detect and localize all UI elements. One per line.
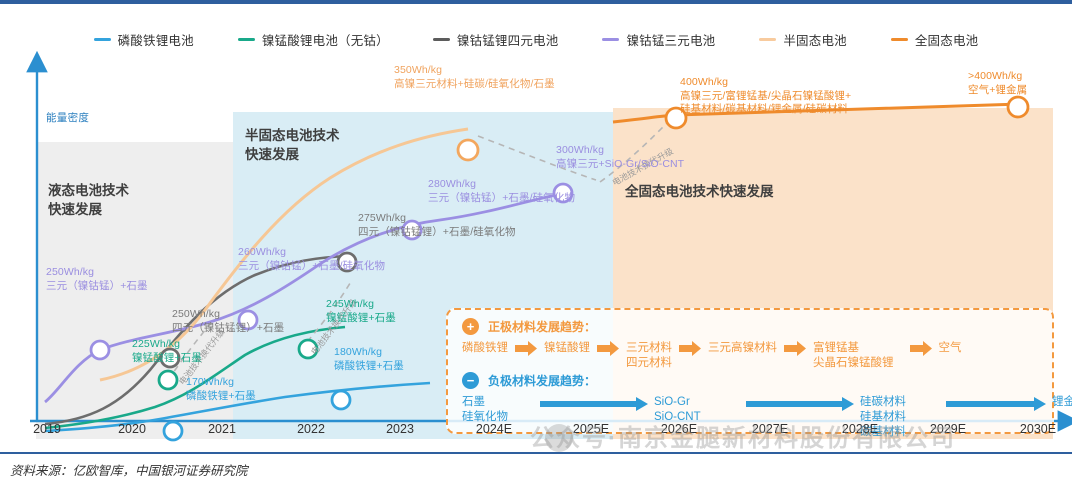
annotation-350: 350Wh/kg 高镍三元材料+硅碳/硅氧化物/石墨	[394, 64, 555, 91]
x-tick-2021: 2021	[208, 422, 236, 436]
annotation-245: 245Wh/kg 镍锰酸锂+石墨	[326, 298, 396, 325]
legend-swatch-quaternary	[433, 38, 450, 41]
legend-label-lnmo: 镍锰酸锂电池（无钴）	[262, 30, 389, 49]
annotation-250-ternary-material: 三元（镍钴锰）+石墨	[46, 280, 148, 294]
arrow-right-icon	[679, 341, 701, 361]
annotation-350-value: 350Wh/kg	[394, 64, 555, 78]
annotation-280: 280Wh/kg 三元（镍钴锰）+石墨/硅氧化物	[428, 178, 575, 205]
annotation-245-value: 245Wh/kg	[326, 298, 396, 312]
annotation-250-ternary: 250Wh/kg 三元（镍钴锰）+石墨	[46, 266, 148, 293]
cathode-node-3-l1: 三元材料	[626, 342, 672, 354]
annotation-260-value: 260Wh/kg	[238, 246, 385, 260]
legend-label-ncm: 镍钴锰三元电池	[626, 30, 715, 49]
cathode-node-4-l1: 三元高镍材料	[708, 342, 777, 354]
chart-legend: 磷酸铁锂电池 镍锰酸锂电池（无钴） 镍钴锰锂四元电池 镍钴锰三元电池 半固态电池…	[0, 28, 1072, 50]
anode-trend-header: − 负极材料发展趋势：	[462, 372, 596, 389]
annotation-300: 300Wh/kg 高镍三元+SiO-Gr/SiO-CNT	[556, 144, 684, 171]
legend-item-lfp[interactable]: 磷酸铁锂电池	[94, 30, 194, 49]
cathode-node-3-l2: 四元材料	[626, 357, 672, 369]
arrow-right-icon	[540, 397, 648, 416]
legend-item-quaternary[interactable]: 镍钴锰锂四元电池	[433, 30, 559, 49]
cathode-node-1-l1: 磷酸铁锂	[462, 342, 508, 354]
anode-node-3-l1: 硅碳材料	[860, 396, 906, 408]
annotation-400-material: 高镍三元/富锂锰基/尖晶石镍锰酸锂+	[680, 90, 851, 104]
annotation-300-value: 300Wh/kg	[556, 144, 684, 158]
annotation-250-quaternary-value: 250Wh/kg	[172, 308, 284, 322]
annotation-400-plus: >400Wh/kg 空气+锂金属	[968, 70, 1027, 97]
annotation-170-material: 磷酸铁锂+石墨	[186, 390, 256, 404]
anode-node-4: 锂金属	[1052, 395, 1072, 410]
annotation-245-material: 镍锰酸锂+石墨	[326, 312, 396, 326]
point-ncm-250	[91, 341, 109, 359]
legend-swatch-semisolid	[759, 38, 776, 41]
material-trend-box: + 正极材料发展趋势： 磷酸铁锂 镍锰酸锂 三元材料 四元材料	[446, 308, 1054, 434]
arrow-right-icon	[515, 341, 537, 361]
legend-item-semisolid[interactable]: 半固态电池	[759, 30, 847, 49]
anode-node-1: 石墨 硅氧化物	[462, 395, 534, 425]
annotation-400-plus-material: 空气+锂金属	[968, 84, 1027, 98]
cathode-trend-title: 正极材料发展趋势：	[488, 318, 596, 335]
cathode-node-5-l1: 富锂锰基	[813, 342, 859, 354]
cathode-node-6: 空气	[939, 341, 962, 356]
legend-label-quaternary: 镍钴锰锂四元电池	[457, 30, 559, 49]
arrow-right-icon	[910, 341, 932, 361]
y-axis-label: 能量密度	[46, 110, 89, 125]
x-tick-2024E: 2024E	[476, 422, 512, 436]
arrow-right-icon	[597, 341, 619, 361]
source-note: 资料来源：亿欧智库，中国银河证券研究院	[10, 460, 248, 479]
cathode-node-2: 镍锰酸锂	[544, 341, 590, 356]
annotation-170: 170Wh/kg 磷酸铁锂+石墨	[186, 376, 256, 403]
legend-swatch-ncm	[602, 38, 619, 41]
annotation-225-material: 镍锰酸锂+石墨	[132, 352, 202, 366]
annotation-300-material: 高镍三元+SiO-Gr/SiO-CNT	[556, 158, 684, 172]
legend-swatch-lnmo	[238, 38, 255, 41]
plot-area: 液态电池技术 快速发展 半固态电池技术 快速发展 全固态电池技术快速发展	[0, 50, 1072, 444]
annotation-275: 275Wh/kg 四元（镍钴锰锂）+石墨/硅氧化物	[358, 212, 516, 239]
plus-icon: +	[462, 318, 479, 335]
cathode-node-6-l1: 空气	[939, 342, 962, 354]
cathode-node-4: 三元高镍材料	[708, 341, 777, 356]
anode-node-1-l1: 石墨	[462, 396, 485, 408]
annotation-225-value: 225Wh/kg	[132, 338, 202, 352]
annotation-225: 225Wh/kg 镍锰酸锂+石墨	[132, 338, 202, 365]
x-tick-2022: 2022	[297, 422, 325, 436]
annotation-280-material: 三元（镍钴锰）+石墨/硅氧化物	[428, 192, 575, 206]
point-lfp-180	[332, 391, 350, 409]
legend-item-lnmo[interactable]: 镍锰酸锂电池（无钴）	[238, 30, 389, 49]
point-lnmo-225	[159, 371, 177, 389]
annotation-400-value: 400Wh/kg	[680, 76, 851, 90]
cathode-chain: 磷酸铁锂 镍锰酸锂 三元材料 四元材料	[462, 341, 962, 371]
cathode-node-3: 三元材料 四元材料	[626, 341, 672, 371]
chart-figure: 磷酸铁锂电池 镍锰酸锂电池（无钴） 镍钴锰锂四元电池 镍钴锰三元电池 半固态电池…	[0, 4, 1072, 444]
annotation-250-ternary-value: 250Wh/kg	[46, 266, 148, 280]
minus-icon: −	[462, 372, 479, 389]
annotation-180-value: 180Wh/kg	[334, 346, 404, 360]
annotation-180-material: 磷酸铁锂+石墨	[334, 360, 404, 374]
cathode-node-2-l1: 镍锰酸锂	[544, 342, 590, 354]
arrow-right-icon	[746, 397, 854, 416]
cathode-node-5: 富锂锰基 尖晶石镍锰酸锂	[813, 341, 894, 371]
arrow-right-icon	[946, 397, 1046, 416]
x-tick-2023: 2023	[386, 422, 414, 436]
annotation-275-material: 四元（镍钴锰锂）+石墨/硅氧化物	[358, 226, 516, 240]
cathode-node-1: 磷酸铁锂	[462, 341, 508, 356]
annotation-250-quaternary: 250Wh/kg 四元（镍钴锰锂）+石墨	[172, 308, 284, 335]
legend-swatch-lfp	[94, 38, 111, 41]
annotation-170-value: 170Wh/kg	[186, 376, 256, 390]
annotation-400: 400Wh/kg 高镍三元/富锂锰基/尖晶石镍锰酸锂+ 硅基材料/碳基材料/锂金…	[680, 76, 851, 117]
annotation-250-quaternary-material: 四元（镍钴锰锂）+石墨	[172, 322, 284, 336]
legend-swatch-allsolid	[891, 38, 908, 41]
bottom-rule	[0, 452, 1072, 454]
legend-label-allsolid: 全固态电池	[915, 30, 979, 49]
x-tick-2019: 2019	[33, 422, 61, 436]
cathode-trend-header: + 正极材料发展趋势：	[462, 318, 596, 335]
annotation-350-material: 高镍三元材料+硅碳/硅氧化物/石墨	[394, 78, 555, 92]
annotation-400-material2: 硅基材料/碳基材料/锂金属/硅碳材料	[680, 103, 851, 117]
point-semisolid-350	[458, 140, 478, 160]
anode-node-4-l1: 锂金属	[1052, 396, 1072, 408]
annotation-260: 260Wh/kg 三元（镍钴锰）+石墨/硅氧化物	[238, 246, 385, 273]
anode-trend-title: 负极材料发展趋势：	[488, 372, 596, 389]
arrow-right-icon	[784, 341, 806, 361]
annotation-280-value: 280Wh/kg	[428, 178, 575, 192]
legend-item-ncm[interactable]: 镍钴锰三元电池	[602, 30, 715, 49]
annotation-180: 180Wh/kg 磷酸铁锂+石墨	[334, 346, 404, 373]
annotation-400-plus-value: >400Wh/kg	[968, 70, 1027, 84]
cathode-node-5-l2: 尖晶石镍锰酸锂	[813, 357, 894, 369]
annotation-275-value: 275Wh/kg	[358, 212, 516, 226]
annotation-260-material: 三元（镍钴锰）+石墨/硅氧化物	[238, 260, 385, 274]
point-allsolid-400plus	[1008, 97, 1028, 117]
x-tick-2020: 2020	[118, 422, 146, 436]
legend-label-lfp: 磷酸铁锂电池	[118, 30, 194, 49]
legend-item-allsolid[interactable]: 全固态电池	[891, 30, 979, 49]
anode-node-2-l1: SiO-Gr	[654, 396, 690, 408]
legend-label-semisolid: 半固态电池	[783, 30, 847, 49]
